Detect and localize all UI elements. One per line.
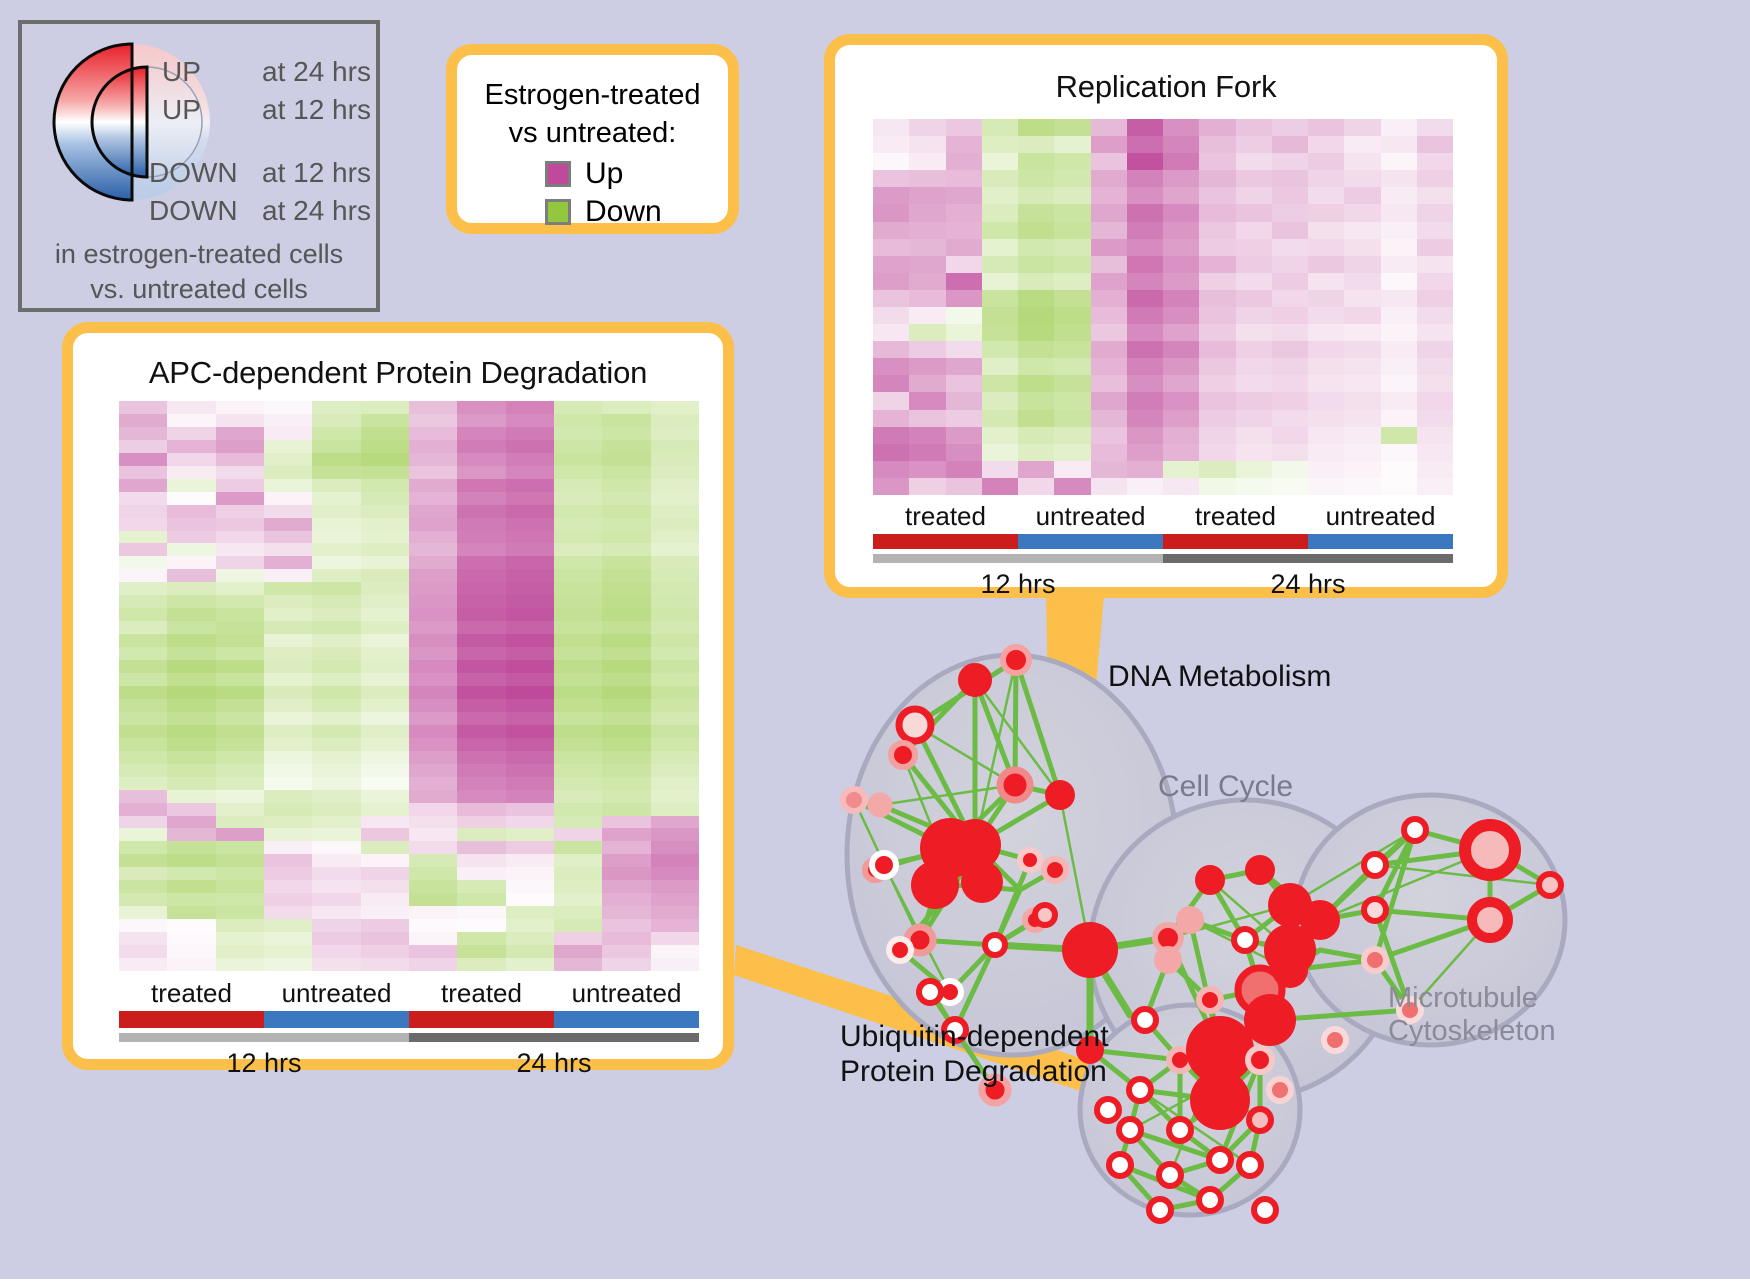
heatmap-cell [1091, 204, 1127, 221]
heatmap-cell [946, 444, 982, 461]
heatmap-cell [1417, 444, 1453, 461]
heatmap-cell [167, 453, 215, 466]
heatmap-cell [1018, 119, 1054, 136]
heatmap-cell [457, 595, 505, 608]
heatmap-cell [457, 569, 505, 582]
heatmap-cell [216, 867, 264, 880]
condition-label: untreated [1308, 501, 1453, 532]
heatmap-cell [506, 621, 554, 634]
heatmap-cell [409, 764, 457, 777]
heatmap-cell [1163, 290, 1199, 307]
heatmap-cell [982, 375, 1018, 392]
heatmap-cell [651, 440, 699, 453]
heatmap-cell [1381, 187, 1417, 204]
heatmap-cell [264, 634, 312, 647]
heatmap-cell [119, 893, 167, 906]
key-time-down-24: at 24 hrs [262, 195, 371, 227]
heatmap-cell [602, 608, 650, 621]
heatmap-cell [651, 582, 699, 595]
heatmap-cell [1308, 256, 1344, 273]
heatmap-cell [216, 816, 264, 829]
heatmap-cell [602, 867, 650, 880]
heatmap-cell [873, 239, 909, 256]
heatmap-cell [873, 187, 909, 204]
heatmap-cell [602, 440, 650, 453]
heatmap-cell [457, 492, 505, 505]
heatmap-cell [119, 518, 167, 531]
heatmap-cell [361, 608, 409, 621]
heatmap-cell [946, 358, 982, 375]
heatmap-cell [457, 582, 505, 595]
heatmap-cell [457, 803, 505, 816]
heatmap-cell [1381, 392, 1417, 409]
heatmap-cell [312, 699, 360, 712]
heatmap-cell [216, 803, 264, 816]
condition-labels-replication-fork: treated untreated treated untreated [873, 501, 1453, 532]
heatmap-cell [1417, 478, 1453, 495]
heatmap-cell [506, 453, 554, 466]
heatmap-cell [1054, 307, 1090, 324]
heatmap-cell [264, 880, 312, 893]
heatmap-cell [312, 414, 360, 427]
heatmap-cell [982, 119, 1018, 136]
heatmap-cell [1344, 392, 1380, 409]
condition-label: treated [873, 501, 1018, 532]
condition-bar-segment [264, 1011, 409, 1028]
heatmap-cell [1054, 324, 1090, 341]
heatmap-cell [1199, 307, 1235, 324]
heatmap-cell [1163, 119, 1199, 136]
heatmap-cell [506, 647, 554, 660]
heatmap-cell [167, 777, 215, 790]
heatmap-cell [409, 414, 457, 427]
heatmap-cell [167, 479, 215, 492]
heatmap-cell [506, 803, 554, 816]
heatmap-cell [1091, 256, 1127, 273]
heatmap-cell [167, 919, 215, 932]
heatmap-cell [457, 556, 505, 569]
heatmap-cell [167, 854, 215, 867]
heatmap-cell [1054, 410, 1090, 427]
heatmap-cell [873, 444, 909, 461]
heatmap-cell [946, 410, 982, 427]
heatmap-cell [1417, 410, 1453, 427]
heatmap-cell [361, 945, 409, 958]
heatmap-cell [167, 893, 215, 906]
heatmap-cell [119, 595, 167, 608]
heatmap-cell [554, 751, 602, 764]
heatmap-cell [982, 204, 1018, 221]
heatmap-cell [216, 699, 264, 712]
network-label-dna-metabolism: DNA Metabolism [1108, 660, 1331, 694]
heatmap-cell [409, 828, 457, 841]
heatmap-cell [909, 358, 945, 375]
heatmap-cell [1091, 136, 1127, 153]
heatmap-cell [216, 725, 264, 738]
heatmap-cell [119, 854, 167, 867]
heatmap-cell [1163, 392, 1199, 409]
heatmap-cell [1308, 290, 1344, 307]
heatmap-cell [312, 427, 360, 440]
heatmap-cell [1199, 170, 1235, 187]
heatmap-cell [554, 958, 602, 971]
heatmap-cell [506, 686, 554, 699]
heatmap-cell [119, 414, 167, 427]
key-word-down-24: DOWN [149, 195, 238, 227]
heatmap-cell [554, 816, 602, 829]
heatmap-cell [119, 919, 167, 932]
key-time-down-12: at 12 hrs [262, 157, 371, 189]
heatmap-cell [651, 634, 699, 647]
heatmap-cell [361, 505, 409, 518]
panel-title-apc-degradation: APC-dependent Protein Degradation [73, 355, 723, 391]
heatmap-cell [651, 906, 699, 919]
heatmap-cell [554, 854, 602, 867]
heatmap-cell [1054, 444, 1090, 461]
heatmap-cell [361, 518, 409, 531]
condition-bar-segment [873, 534, 1018, 549]
heatmap-cell [1127, 392, 1163, 409]
heatmap-cell [1344, 153, 1380, 170]
heatmap-cell [602, 595, 650, 608]
heatmap-cell [457, 893, 505, 906]
heatmap-cell [506, 725, 554, 738]
heatmap-cell [602, 427, 650, 440]
heatmap-cell [216, 556, 264, 569]
heatmap-cell [873, 273, 909, 290]
heatmap-cell [312, 777, 360, 790]
heatmap-cell [651, 569, 699, 582]
heatmap-cell [1308, 204, 1344, 221]
heatmap-cell [312, 595, 360, 608]
heatmap-cell [119, 673, 167, 686]
heatmap-cell [1127, 290, 1163, 307]
heatmap-cell [1199, 392, 1235, 409]
heatmap-cell [602, 543, 650, 556]
heatmap-cell [1127, 358, 1163, 375]
condition-label: untreated [264, 978, 409, 1009]
heatmap-cell [506, 440, 554, 453]
heatmap-cell [1091, 358, 1127, 375]
heatmap-cell [1381, 136, 1417, 153]
heatmap-cell [409, 466, 457, 479]
heatmap-cell [1091, 273, 1127, 290]
heatmap-cell [602, 414, 650, 427]
heatmap-cell [1127, 222, 1163, 239]
heatmap-cell [651, 893, 699, 906]
heatmap-cell [909, 204, 945, 221]
heatmap-cell [1054, 119, 1090, 136]
heatmap-apc-degradation [119, 401, 699, 971]
heatmap-cell [1381, 427, 1417, 444]
heatmap-cell [651, 466, 699, 479]
heatmap-cell [167, 828, 215, 841]
heatmap-cell [119, 543, 167, 556]
heatmap-cell [361, 841, 409, 854]
heatmap-cell [312, 518, 360, 531]
heatmap-cell [1018, 324, 1054, 341]
heatmap-cell [264, 919, 312, 932]
heatmap-cell [1163, 136, 1199, 153]
heatmap-cell [361, 958, 409, 971]
heatmap-cell [1127, 444, 1163, 461]
heatmap-cell [167, 647, 215, 660]
heatmap-cell [1272, 222, 1308, 239]
heatmap-cell [506, 828, 554, 841]
timepoint-labels-replication-fork: 12 hrs 24 hrs [873, 569, 1453, 600]
heatmap-cell [1236, 444, 1272, 461]
heatmap-cell [216, 751, 264, 764]
heatmap-cell [264, 492, 312, 505]
heatmap-cell [1018, 187, 1054, 204]
heatmap-cell [1163, 170, 1199, 187]
heatmap-cell [554, 453, 602, 466]
heatmap-cell [1199, 358, 1235, 375]
heatmap-cell [1344, 119, 1380, 136]
heatmap-cell [119, 492, 167, 505]
heatmap-cell [651, 414, 699, 427]
heatmap-cell [216, 634, 264, 647]
heatmap-cell [1308, 392, 1344, 409]
heatmap-cell [361, 401, 409, 414]
heatmap-cell [216, 790, 264, 803]
heatmap-cell [119, 790, 167, 803]
heatmap-cell [457, 751, 505, 764]
heatmap-cell [216, 505, 264, 518]
heatmap-cell [167, 440, 215, 453]
heatmap-cell [602, 453, 650, 466]
heatmap-cell [264, 854, 312, 867]
heatmap-cell [651, 492, 699, 505]
heatmap-cell [457, 764, 505, 777]
heatmap-cell [167, 556, 215, 569]
heatmap-cell [1381, 358, 1417, 375]
heatmap-cell [909, 392, 945, 409]
heatmap-cell [909, 170, 945, 187]
heatmap-cell [554, 880, 602, 893]
heatmap-cell [457, 440, 505, 453]
heatmap-cell [554, 505, 602, 518]
heatmap-cell [167, 505, 215, 518]
heatmap-cell [873, 119, 909, 136]
heatmap-cell [264, 906, 312, 919]
heatmap-cell [1018, 170, 1054, 187]
heatmap-cell [554, 828, 602, 841]
heatmap-cell [1018, 444, 1054, 461]
heatmap-cell [554, 660, 602, 673]
heatmap-cell [1308, 427, 1344, 444]
network-label-microtubule: MicrotubuleCytoskeleton [1388, 982, 1556, 1049]
heatmap-cell [264, 453, 312, 466]
heatmap-cell [651, 867, 699, 880]
heatmap-cell [1344, 324, 1380, 341]
heatmap-cell [1236, 170, 1272, 187]
heatmap-cell [946, 273, 982, 290]
heatmap-cell [1417, 461, 1453, 478]
heatmap-cell [873, 324, 909, 341]
heatmap-cell [409, 479, 457, 492]
heatmap-cell [1236, 290, 1272, 307]
heatmap-cell [457, 673, 505, 686]
heatmap-cell [409, 621, 457, 634]
heatmap-cell [1308, 341, 1344, 358]
heatmap-cell [312, 453, 360, 466]
heatmap-cell [216, 582, 264, 595]
heatmap-cell [216, 686, 264, 699]
heatmap-cell [361, 569, 409, 582]
heatmap-cell [361, 712, 409, 725]
heatmap-cell [264, 427, 312, 440]
heatmap-cell [1163, 324, 1199, 341]
heatmap-cell [312, 738, 360, 751]
heatmap-cell [457, 958, 505, 971]
heatmap-cell [167, 790, 215, 803]
heatmap-cell [1199, 478, 1235, 495]
heatmap-cell [312, 790, 360, 803]
heatmap-cell [167, 751, 215, 764]
heatmap-cell [909, 410, 945, 427]
heatmap-cell [361, 427, 409, 440]
heatmap-cell [167, 621, 215, 634]
heatmap-cell [1127, 273, 1163, 290]
heatmap-cell [409, 505, 457, 518]
heatmap-cell [873, 392, 909, 409]
heatmap-cell [1308, 222, 1344, 239]
heatmap-cell [1236, 136, 1272, 153]
heatmap-cell [982, 290, 1018, 307]
heatmap-cell [409, 595, 457, 608]
heatmap-cell [909, 239, 945, 256]
heatmap-cell [1127, 204, 1163, 221]
heatmap-cell [1199, 324, 1235, 341]
condition-bar-replication-fork [873, 534, 1453, 549]
heatmap-cell [651, 595, 699, 608]
heatmap-cell [1127, 427, 1163, 444]
heatmap-cell [1054, 273, 1090, 290]
heatmap-cell [167, 867, 215, 880]
heatmap-cell [554, 466, 602, 479]
heatmap-cell [167, 660, 215, 673]
heatmap-cell [554, 479, 602, 492]
heatmap-cell [506, 569, 554, 582]
heatmap-cell [1236, 461, 1272, 478]
heatmap-cell [554, 531, 602, 544]
heatmap-cell [361, 634, 409, 647]
heatmap-cell [216, 427, 264, 440]
condition-label: untreated [1018, 501, 1163, 532]
heatmap-cell [554, 699, 602, 712]
heatmap-cell [457, 712, 505, 725]
heatmap-cell [119, 880, 167, 893]
heatmap-cell [167, 569, 215, 582]
heatmap-cell [1091, 170, 1127, 187]
heatmap-cell [602, 828, 650, 841]
heatmap-cell [1091, 187, 1127, 204]
heatmap-cell [216, 440, 264, 453]
heatmap-cell [651, 479, 699, 492]
heatmap-cell [1381, 153, 1417, 170]
heatmap-cell [554, 906, 602, 919]
heatmap-cell [409, 880, 457, 893]
heatmap-cell [1381, 256, 1417, 273]
heatmap-cell [1236, 358, 1272, 375]
heatmap-cell [651, 686, 699, 699]
heatmap-cell [216, 492, 264, 505]
heatmap-cell [457, 919, 505, 932]
heatmap-cell [167, 608, 215, 621]
key-word-up-12: UP [162, 94, 201, 126]
heatmap-cell [1381, 410, 1417, 427]
heatmap-cell [361, 466, 409, 479]
heatmap-cell [554, 673, 602, 686]
heatmap-cell [312, 958, 360, 971]
heatmap-cell [1018, 392, 1054, 409]
timepoint-label: 12 hrs [873, 569, 1163, 600]
heatmap-cell [602, 725, 650, 738]
panel-apc-degradation: APC-dependent Protein Degradation treate… [62, 322, 734, 1070]
heatmap-cell [1163, 273, 1199, 290]
timepoint-label: 24 hrs [1163, 569, 1453, 600]
heatmap-cell [651, 556, 699, 569]
heatmap-cell [506, 893, 554, 906]
heatmap-cell [119, 582, 167, 595]
heatmap-cell [1417, 119, 1453, 136]
heatmap-cell [1381, 478, 1417, 495]
heatmap-cell [909, 136, 945, 153]
heatmap-cell [1308, 410, 1344, 427]
heatmap-cell [506, 854, 554, 867]
heatmap-cell [119, 401, 167, 414]
heatmap-cell [506, 660, 554, 673]
heatmap-cell [119, 777, 167, 790]
heatmap-cell [457, 479, 505, 492]
heatmap-cell [651, 803, 699, 816]
heatmap-cell [602, 751, 650, 764]
heatmap-cell [312, 634, 360, 647]
heatmap-cell [119, 621, 167, 634]
heatmap-cell [1236, 392, 1272, 409]
heatmap-cell [119, 867, 167, 880]
heatmap-cell [909, 375, 945, 392]
heatmap-cell [506, 751, 554, 764]
heatmap-cell [554, 867, 602, 880]
heatmap-cell [1236, 341, 1272, 358]
heatmap-cell [1091, 461, 1127, 478]
heatmap-cell [1272, 324, 1308, 341]
heatmap-cell [602, 738, 650, 751]
heatmap-cell [909, 222, 945, 239]
heatmap-cell [361, 673, 409, 686]
heatmap-cell [457, 531, 505, 544]
heatmap-cell [457, 634, 505, 647]
heatmap-cell [506, 816, 554, 829]
heatmap-cell [873, 290, 909, 307]
heatmap-cell [119, 816, 167, 829]
heatmap-cell [216, 453, 264, 466]
heatmap-cell [1091, 324, 1127, 341]
heatmap-cell [651, 880, 699, 893]
heatmap-cell [119, 531, 167, 544]
heatmap-cell [1054, 290, 1090, 307]
heatmap-cell [264, 725, 312, 738]
heatmap-cell [554, 841, 602, 854]
heatmap-cell [361, 751, 409, 764]
heatmap-cell [312, 505, 360, 518]
heatmap-cell [946, 256, 982, 273]
heatmap-cell [409, 453, 457, 466]
heatmap-cell [457, 790, 505, 803]
heatmap-cell [1344, 307, 1380, 324]
